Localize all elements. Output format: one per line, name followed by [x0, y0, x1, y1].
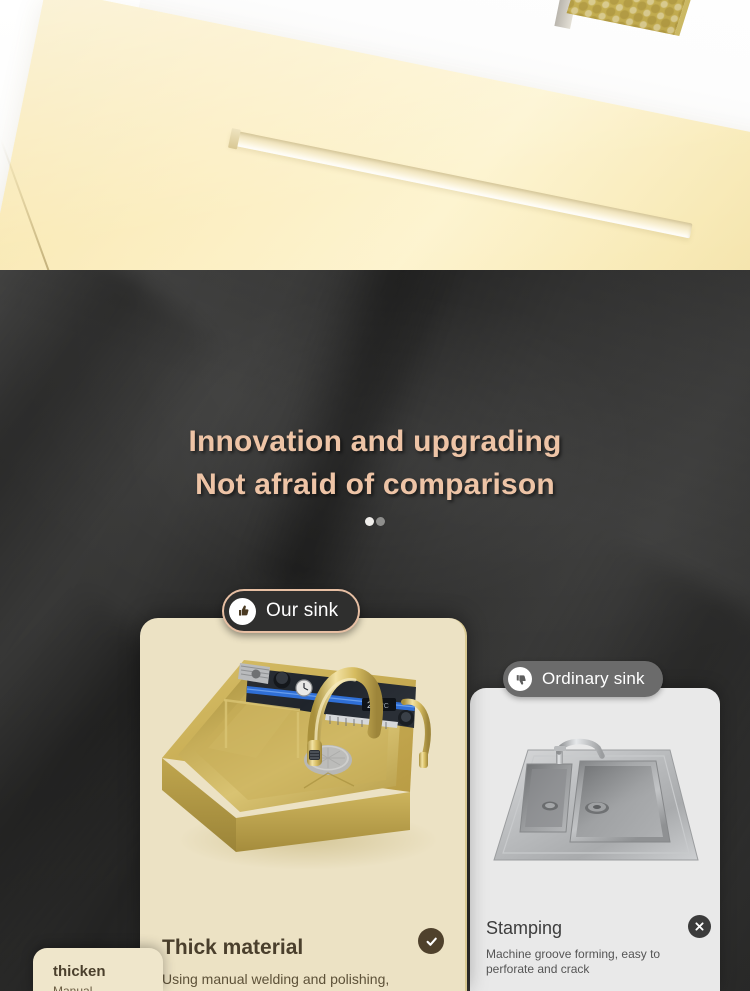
check-circle-icon	[418, 928, 444, 954]
thumbs-down-icon	[508, 667, 532, 691]
ordinary-sink-image	[484, 734, 704, 879]
thicken-card[interactable]: thicken Manual	[33, 948, 163, 991]
our-sink-card[interactable]: 28 °C	[140, 618, 467, 991]
thicken-card-sub: Manual	[53, 984, 92, 991]
hero-product-photo	[0, 0, 750, 270]
our-feature-desc: Using manual welding and polishing,	[162, 970, 432, 989]
thicken-card-label: thicken	[53, 963, 106, 980]
product-detail-page: Innovation and upgrading Not afraid of c…	[0, 0, 750, 991]
ordinary-feature-title: Stamping	[486, 918, 562, 939]
carousel-indicator[interactable]	[0, 517, 750, 526]
ordinary-sink-card[interactable]: Stamping Machine groove forming, easy to…	[470, 688, 720, 991]
ordinary-sink-badge-label: Ordinary sink	[542, 669, 645, 689]
thumbs-up-icon	[229, 598, 256, 625]
our-sink-badge-label: Our sink	[266, 600, 338, 622]
our-feature-title: Thick material	[162, 936, 303, 960]
our-sink-badge[interactable]: Our sink	[222, 589, 360, 633]
our-sink-image: 28 °C	[148, 640, 458, 875]
ordinary-feature-desc: Machine groove forming, easy to perforat…	[486, 947, 678, 977]
x-circle-icon	[688, 915, 711, 938]
ordinary-sink-badge[interactable]: Ordinary sink	[503, 661, 663, 697]
carousel-dot-2[interactable]	[376, 517, 385, 526]
carousel-dot-1[interactable]	[365, 517, 374, 526]
